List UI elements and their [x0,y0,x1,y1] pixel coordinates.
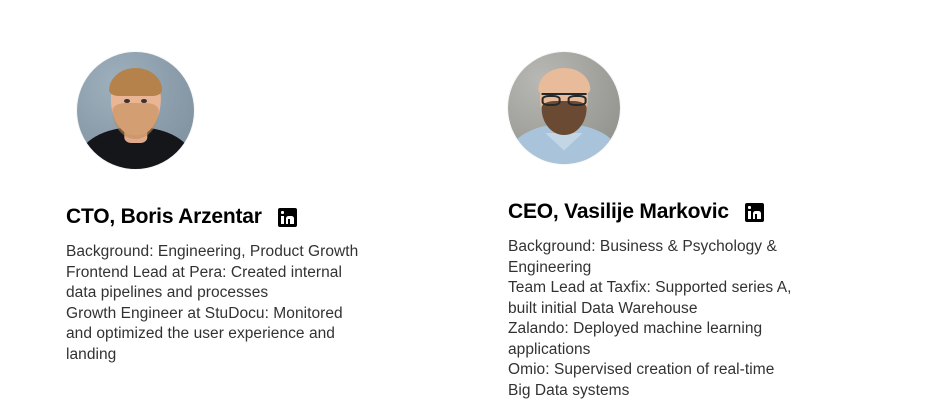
profile-bio-cto: Background: Engineering, Product Growth … [66,242,411,365]
linkedin-icon-dot [748,206,752,210]
bio-line: Zalando: Deployed machine learning [508,319,853,340]
bio-line: Omio: Supervised creation of real-time [508,360,853,381]
bio-line: Team Lead at Taxfix: Supported series A, [508,278,853,299]
profile-bio-ceo: Background: Business & Psychology & Engi… [508,237,853,401]
profile-card-cto: CTO, Boris Arzentar Background: Engineer… [66,0,466,365]
linkedin-icon-bar [748,211,752,219]
bio-line: Engineering [508,258,853,279]
bio-line: Background: Business & Psychology & [508,237,853,258]
linkedin-icon[interactable] [278,208,297,227]
bio-line: landing [66,345,411,366]
profile-name-row: CTO, Boris Arzentar [66,205,466,229]
bio-line: Frontend Lead at Pera: Created internal [66,263,411,284]
profile-name-ceo: CEO, Vasilije Markovic [508,200,729,224]
linkedin-icon[interactable] [745,203,764,222]
linkedin-icon-bar [281,216,285,224]
bio-line: data pipelines and processes [66,283,411,304]
avatar [77,52,194,169]
profile-name-row: CEO, Vasilije Markovic [508,200,908,224]
bio-line: built initial Data Warehouse [508,299,853,320]
linkedin-icon-dot [281,211,285,215]
portrait-hair [109,68,163,96]
bio-line: Big Data systems [508,381,853,402]
profile-name-cto: CTO, Boris Arzentar [66,205,262,229]
portrait-eye-left [124,99,130,103]
bio-line: Background: Engineering, Product Growth [66,242,411,263]
portrait-eye-right [141,99,147,103]
linkedin-icon-n [753,211,761,219]
bio-line: Growth Engineer at StuDocu: Monitored [66,304,411,325]
profile-card-ceo: CEO, Vasilije Markovic Background: Busin… [508,0,908,401]
portrait-glasses [542,93,587,105]
linkedin-icon-n [286,216,294,224]
team-profiles-slide: CTO, Boris Arzentar Background: Engineer… [0,0,948,412]
bio-line: and optimized the user experience and [66,324,411,345]
avatar [508,52,620,164]
bio-line: applications [508,340,853,361]
portrait-hair [538,68,590,95]
